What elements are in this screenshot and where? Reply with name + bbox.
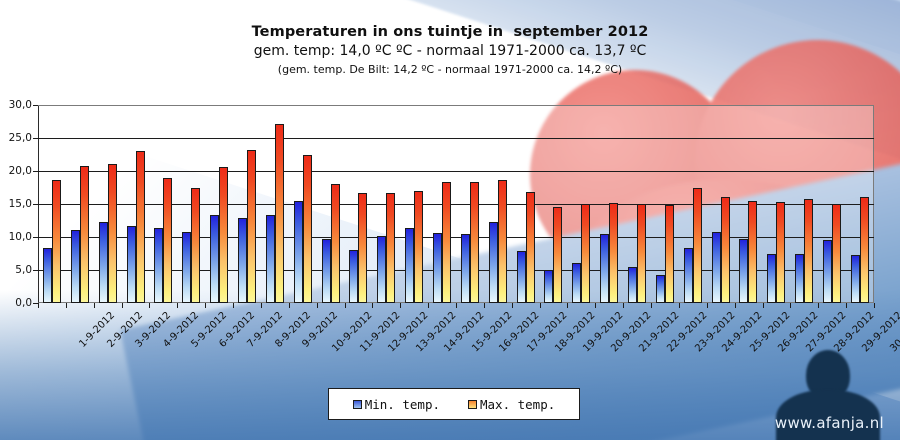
- y-axis-tick-label: 0,0: [0, 297, 32, 309]
- chart-title: Temperaturen in ons tuintje in september…: [0, 24, 900, 40]
- bar-min-temp[interactable]: [823, 240, 832, 303]
- x-axis-labels: 1-9-20122-9-20123-9-20124-9-20125-9-2012…: [38, 304, 874, 374]
- bar-series-group: [38, 105, 874, 303]
- legend-item-max-temp: Max. temp.: [468, 397, 555, 412]
- bar-group[interactable]: [372, 105, 400, 303]
- bar-min-temp[interactable]: [684, 248, 693, 303]
- bar-min-temp[interactable]: [349, 250, 358, 303]
- bar-min-temp[interactable]: [795, 254, 804, 303]
- bar-min-temp[interactable]: [851, 255, 860, 303]
- y-axis-tick-label: 20,0: [0, 165, 32, 177]
- bar-min-temp[interactable]: [154, 228, 163, 303]
- bar-min-temp[interactable]: [99, 222, 108, 303]
- bar-group[interactable]: [818, 105, 846, 303]
- bar-max-temp[interactable]: [191, 188, 200, 304]
- bar-group[interactable]: [344, 105, 372, 303]
- bar-group[interactable]: [38, 105, 66, 303]
- bar-min-temp[interactable]: [517, 251, 526, 303]
- bar-max-temp[interactable]: [80, 166, 89, 303]
- bar-max-temp[interactable]: [748, 201, 757, 303]
- bar-min-temp[interactable]: [266, 215, 275, 303]
- bar-max-temp[interactable]: [804, 199, 813, 303]
- bar-max-temp[interactable]: [331, 184, 340, 303]
- legend-swatch-max-temp: [468, 400, 477, 409]
- bar-min-temp[interactable]: [628, 267, 637, 303]
- bar-min-temp[interactable]: [238, 218, 247, 303]
- bar-min-temp[interactable]: [71, 230, 80, 303]
- bar-max-temp[interactable]: [860, 197, 869, 303]
- bar-min-temp[interactable]: [489, 222, 498, 303]
- bar-group[interactable]: [261, 105, 289, 303]
- watermark: www.afanja.nl: [775, 414, 884, 432]
- chart-titles: Temperaturen in ons tuintje in september…: [0, 24, 900, 76]
- bar-group[interactable]: [595, 105, 623, 303]
- bar-group[interactable]: [846, 105, 874, 303]
- y-axis-tick-label: 10,0: [0, 231, 32, 243]
- bar-min-temp[interactable]: [43, 248, 52, 303]
- bar-max-temp[interactable]: [832, 204, 841, 303]
- bar-group[interactable]: [790, 105, 818, 303]
- bar-max-temp[interactable]: [526, 192, 535, 303]
- bar-min-temp[interactable]: [182, 232, 191, 303]
- bar-group[interactable]: [539, 105, 567, 303]
- bar-min-temp[interactable]: [405, 228, 414, 303]
- bar-max-temp[interactable]: [108, 164, 117, 303]
- bar-min-temp[interactable]: [712, 232, 721, 303]
- bar-group[interactable]: [512, 105, 540, 303]
- bar-min-temp[interactable]: [767, 254, 776, 304]
- bar-min-temp[interactable]: [294, 201, 303, 303]
- bar-max-temp[interactable]: [442, 182, 451, 303]
- bar-max-temp[interactable]: [414, 191, 423, 303]
- legend-item-min-temp: Min. temp.: [353, 397, 440, 412]
- bar-group[interactable]: [149, 105, 177, 303]
- bar-group[interactable]: [456, 105, 484, 303]
- bar-max-temp[interactable]: [358, 193, 367, 303]
- bar-group[interactable]: [762, 105, 790, 303]
- bar-group[interactable]: [651, 105, 679, 303]
- bar-group[interactable]: [94, 105, 122, 303]
- bar-max-temp[interactable]: [553, 207, 562, 303]
- bar-group[interactable]: [623, 105, 651, 303]
- bar-group[interactable]: [567, 105, 595, 303]
- chart-legend: Min. temp. Max. temp.: [328, 388, 580, 420]
- bar-max-temp[interactable]: [247, 150, 256, 303]
- bar-max-temp[interactable]: [721, 197, 730, 303]
- chart-container: Temperaturen in ons tuintje in september…: [0, 0, 900, 440]
- bar-min-temp[interactable]: [600, 234, 609, 303]
- y-axis-tick-label: 5,0: [0, 264, 32, 276]
- bar-max-temp[interactable]: [52, 180, 61, 303]
- legend-label-min-temp: Min. temp.: [365, 397, 440, 412]
- bar-max-temp[interactable]: [303, 155, 312, 304]
- bar-min-temp[interactable]: [210, 215, 219, 303]
- bar-max-temp[interactable]: [609, 203, 618, 303]
- bar-max-temp[interactable]: [163, 178, 172, 303]
- y-axis-tick-label: 30,0: [0, 99, 32, 111]
- bar-group[interactable]: [679, 105, 707, 303]
- bar-max-temp[interactable]: [776, 202, 785, 303]
- bar-group[interactable]: [289, 105, 317, 303]
- legend-swatch-min-temp: [353, 400, 362, 409]
- bar-max-temp[interactable]: [386, 193, 395, 303]
- bar-min-temp[interactable]: [433, 233, 442, 303]
- y-axis-tick-label: 15,0: [0, 198, 32, 210]
- bar-group[interactable]: [484, 105, 512, 303]
- bar-min-temp[interactable]: [127, 226, 136, 303]
- bar-group[interactable]: [205, 105, 233, 303]
- bar-max-temp[interactable]: [470, 182, 479, 303]
- bar-group[interactable]: [400, 105, 428, 303]
- x-axis-tick-mark: [874, 303, 875, 308]
- bar-group[interactable]: [317, 105, 345, 303]
- bar-max-temp[interactable]: [136, 151, 145, 303]
- bar-group[interactable]: [122, 105, 150, 303]
- bar-min-temp[interactable]: [739, 239, 748, 303]
- bar-group[interactable]: [428, 105, 456, 303]
- bar-max-temp[interactable]: [219, 167, 228, 303]
- y-axis-tick-label: 25,0: [0, 132, 32, 144]
- bar-min-temp[interactable]: [322, 239, 331, 303]
- bar-group[interactable]: [177, 105, 205, 303]
- plot-area: [38, 105, 874, 303]
- bar-min-temp[interactable]: [461, 234, 470, 303]
- bar-max-temp[interactable]: [665, 205, 674, 303]
- bar-max-temp[interactable]: [275, 124, 284, 303]
- chart-subtitle-secondary: (gem. temp. De Bilt: 14,2 ºC - normaal 1…: [0, 63, 900, 76]
- bar-min-temp[interactable]: [656, 275, 665, 303]
- bar-group[interactable]: [233, 105, 261, 303]
- bar-max-temp[interactable]: [693, 188, 702, 303]
- bar-max-temp[interactable]: [581, 204, 590, 303]
- bar-min-temp[interactable]: [377, 236, 386, 303]
- bar-max-temp[interactable]: [498, 180, 507, 303]
- bar-max-temp[interactable]: [637, 204, 646, 303]
- legend-label-max-temp: Max. temp.: [480, 397, 555, 412]
- bar-group[interactable]: [734, 105, 762, 303]
- bar-min-temp[interactable]: [572, 263, 581, 303]
- bar-min-temp[interactable]: [544, 270, 553, 303]
- chart-subtitle: gem. temp: 14,0 ºC ºC - normaal 1971-200…: [0, 43, 900, 59]
- bar-group[interactable]: [707, 105, 735, 303]
- bar-group[interactable]: [66, 105, 94, 303]
